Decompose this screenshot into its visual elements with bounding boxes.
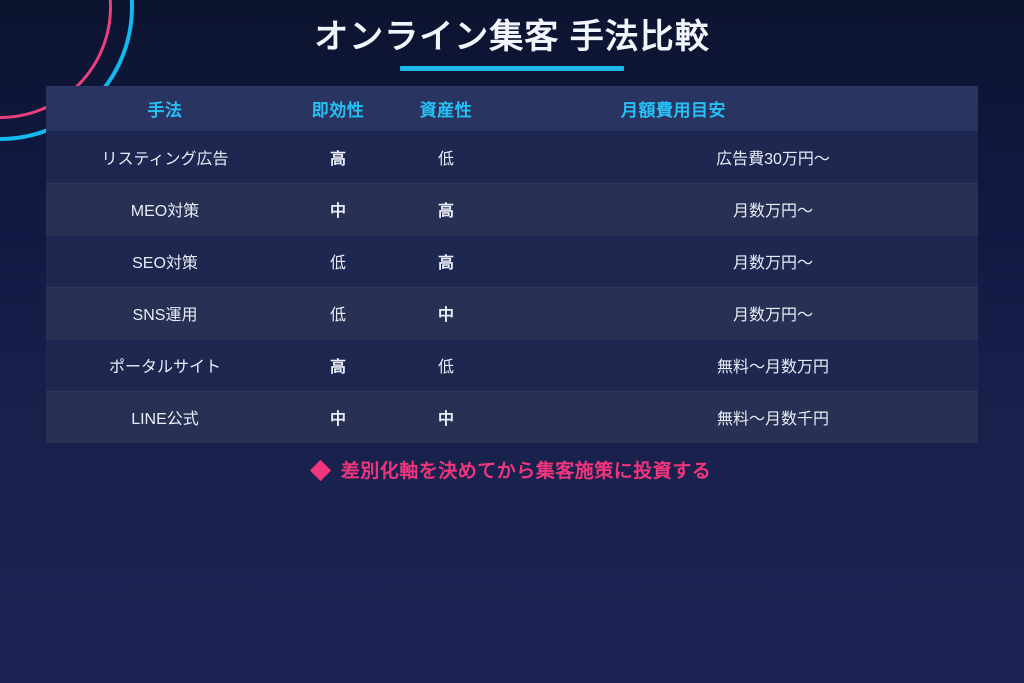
column-header-cost: 月額費用目安 — [500, 86, 978, 131]
table-header-row: 手法 即効性 資産性 月額費用目安 — [46, 86, 978, 131]
cell-speed: 低 — [284, 235, 392, 287]
table-row: リスティング広告高低広告費30万円〜 — [46, 131, 978, 183]
cell-asset: 中 — [392, 391, 500, 443]
cell-asset: 中 — [392, 287, 500, 339]
table-row: ポータルサイト高低無料〜月数万円 — [46, 339, 978, 391]
cell-method: ポータルサイト — [46, 339, 284, 391]
table-header: 手法 即効性 資産性 月額費用目安 — [46, 86, 978, 131]
cell-speed: 高 — [284, 339, 392, 391]
cell-method: SNS運用 — [46, 287, 284, 339]
cell-speed: 中 — [284, 183, 392, 235]
column-header-asset: 資産性 — [392, 86, 500, 131]
slide-canvas: オンライン集客 手法比較 手法 即効性 資産性 月額費用目安 リスティング広告高… — [0, 0, 1024, 683]
cell-cost: 月数万円〜 — [500, 183, 978, 235]
diamond-icon — [310, 460, 331, 481]
cell-asset: 高 — [392, 235, 500, 287]
table-row: SNS運用低中月数万円〜 — [46, 287, 978, 339]
table-row: SEO対策低高月数万円〜 — [46, 235, 978, 287]
cell-speed: 低 — [284, 287, 392, 339]
cell-asset: 低 — [392, 339, 500, 391]
cell-speed: 高 — [284, 131, 392, 183]
comparison-table-container: 手法 即効性 資産性 月額費用目安 リスティング広告高低広告費30万円〜MEO対… — [46, 86, 978, 443]
cell-asset: 低 — [392, 131, 500, 183]
table-row: MEO対策中高月数万円〜 — [46, 183, 978, 235]
title-underline — [400, 66, 624, 71]
footer-note: 差別化軸を決めてから集客施策に投資する — [0, 456, 1024, 483]
cell-asset: 高 — [392, 183, 500, 235]
column-header-speed: 即効性 — [284, 86, 392, 131]
page-title: オンライン集客 手法比較 — [0, 14, 1024, 60]
cell-method: LINE公式 — [46, 391, 284, 443]
footer-note-text: 差別化軸を決めてから集客施策に投資する — [341, 456, 712, 483]
title-block: オンライン集客 手法比較 — [0, 14, 1024, 71]
cell-cost: 月数万円〜 — [500, 287, 978, 339]
cell-cost: 無料〜月数万円 — [500, 339, 978, 391]
cell-method: リスティング広告 — [46, 131, 284, 183]
table-body: リスティング広告高低広告費30万円〜MEO対策中高月数万円〜SEO対策低高月数万… — [46, 131, 978, 443]
table-row: LINE公式中中無料〜月数千円 — [46, 391, 978, 443]
cell-speed: 中 — [284, 391, 392, 443]
cell-cost: 無料〜月数千円 — [500, 391, 978, 443]
cell-method: SEO対策 — [46, 235, 284, 287]
comparison-table: 手法 即効性 資産性 月額費用目安 リスティング広告高低広告費30万円〜MEO対… — [46, 86, 978, 443]
column-header-method: 手法 — [46, 86, 284, 131]
cell-cost: 月数万円〜 — [500, 235, 978, 287]
cell-method: MEO対策 — [46, 183, 284, 235]
cell-cost: 広告費30万円〜 — [500, 131, 978, 183]
